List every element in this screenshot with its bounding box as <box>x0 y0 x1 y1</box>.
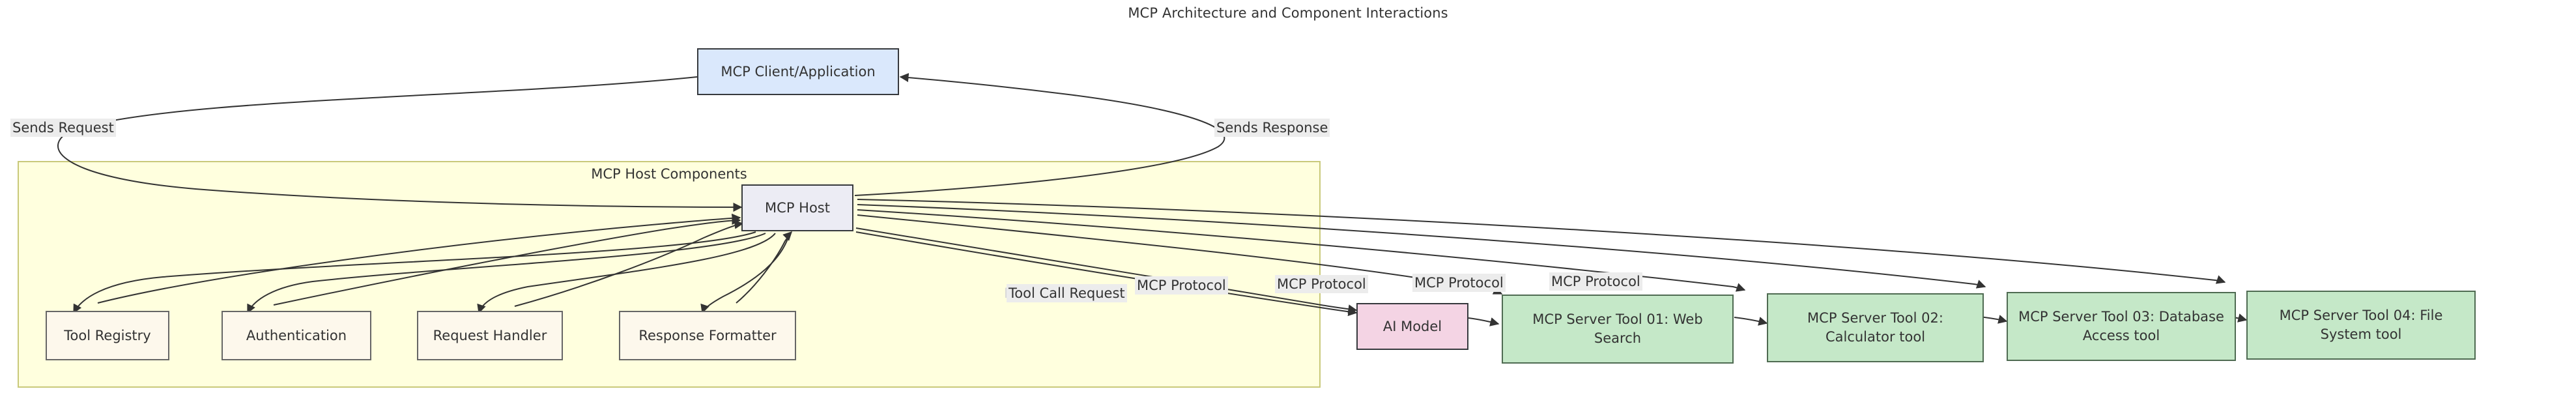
node-ai-model[interactable]: AI Model <box>1356 303 1468 350</box>
edge-label-mcp-protocol-1: MCP Protocol <box>1135 276 1228 295</box>
node-label: Tool Registry <box>64 326 150 345</box>
edge-label-sends-response: Sends Response <box>1214 119 1330 137</box>
node-mcp-server-tool-04[interactable]: MCP Server Tool 04: File System tool <box>2246 291 2476 360</box>
node-authentication[interactable]: Authentication <box>222 311 371 360</box>
node-label: Authentication <box>246 326 347 345</box>
node-label: Request Handler <box>433 326 547 345</box>
node-tool-registry[interactable]: Tool Registry <box>46 311 169 360</box>
node-label: Response Formatter <box>638 326 776 345</box>
edge-label-mcp-protocol-4: MCP Protocol <box>1549 272 1642 291</box>
node-label: MCP Client/Application <box>721 63 875 81</box>
node-mcp-server-tool-01[interactable]: MCP Server Tool 01: Web Search <box>1502 295 1734 364</box>
edge-label-mcp-protocol-3: MCP Protocol <box>1412 274 1506 292</box>
node-mcp-client-application[interactable]: MCP Client/Application <box>697 48 899 95</box>
node-mcp-host[interactable]: MCP Host <box>741 184 853 231</box>
node-label: MCP Host <box>765 199 830 218</box>
node-mcp-server-tool-03[interactable]: MCP Server Tool 03: Database Access tool <box>2007 292 2236 361</box>
node-label: AI Model <box>1383 317 1442 336</box>
edge-label-tool-call-request: Tool Call Request <box>1007 284 1127 302</box>
node-label: MCP Server Tool 03: Database Access tool <box>2014 308 2228 345</box>
cluster-label-mcp-host-components: MCP Host Components <box>18 166 1321 182</box>
node-request-handler[interactable]: Request Handler <box>417 311 563 360</box>
diagram-canvas: MCP Architecture and Component Interacti… <box>0 0 2576 404</box>
edge-label-mcp-protocol-2: MCP Protocol <box>1275 275 1368 293</box>
edge-label-sends-request: Sends Request <box>10 119 116 137</box>
node-label: MCP Server Tool 01: Web Search <box>1510 310 1726 348</box>
node-label: MCP Server Tool 02: Calculator tool <box>1775 309 1976 347</box>
edge-server-tool-01-to-02 <box>1734 317 1767 323</box>
edge-ai-model-to-server-tool-01 <box>1468 318 1498 324</box>
page-title: MCP Architecture and Component Interacti… <box>0 5 2576 21</box>
node-label: MCP Server Tool 04: File System tool <box>2254 306 2468 344</box>
node-response-formatter[interactable]: Response Formatter <box>619 311 796 360</box>
node-mcp-server-tool-02[interactable]: MCP Server Tool 02: Calculator tool <box>1767 293 1984 362</box>
